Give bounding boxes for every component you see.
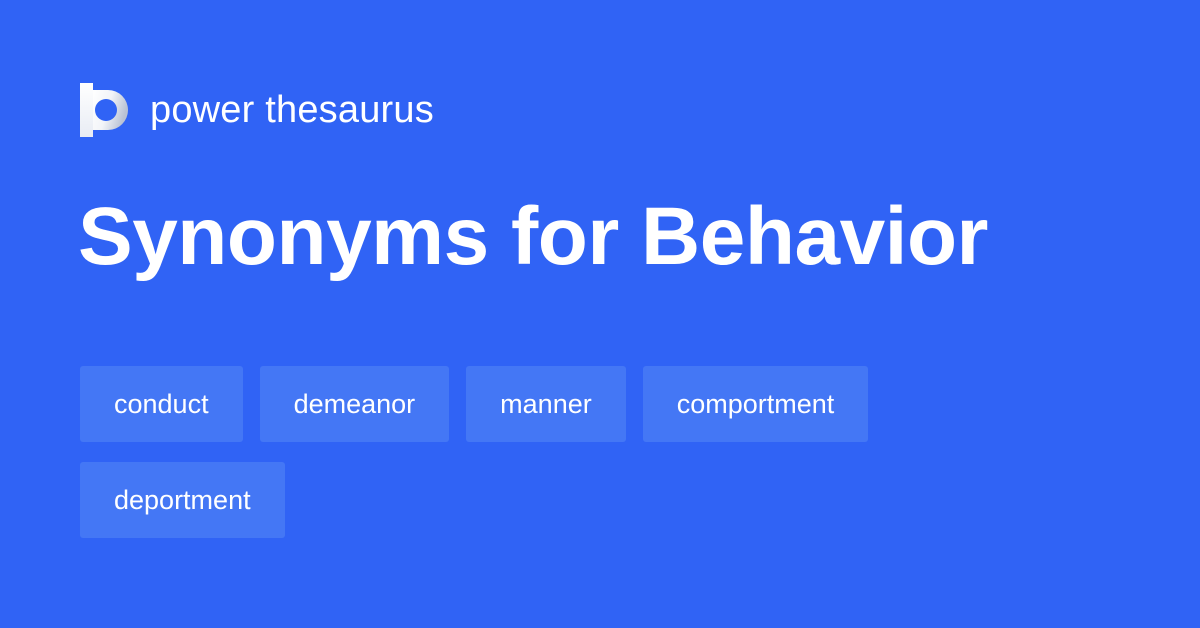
- synonym-chip[interactable]: deportment: [80, 462, 285, 538]
- power-thesaurus-b-logo-icon: [80, 83, 128, 137]
- page-title: Synonyms for Behavior: [78, 196, 988, 278]
- synonym-chip[interactable]: comportment: [643, 366, 869, 442]
- synonym-chip[interactable]: demeanor: [260, 366, 450, 442]
- synonym-chip[interactable]: manner: [466, 366, 626, 442]
- share-card: power thesaurus Synonyms for Behavior co…: [0, 0, 1200, 628]
- synonym-chip[interactable]: conduct: [80, 366, 243, 442]
- synonym-chip-list: conduct demeanor manner comportment depo…: [80, 366, 1080, 538]
- brand-name: power thesaurus: [150, 91, 434, 129]
- brand-lockup[interactable]: power thesaurus: [80, 82, 434, 138]
